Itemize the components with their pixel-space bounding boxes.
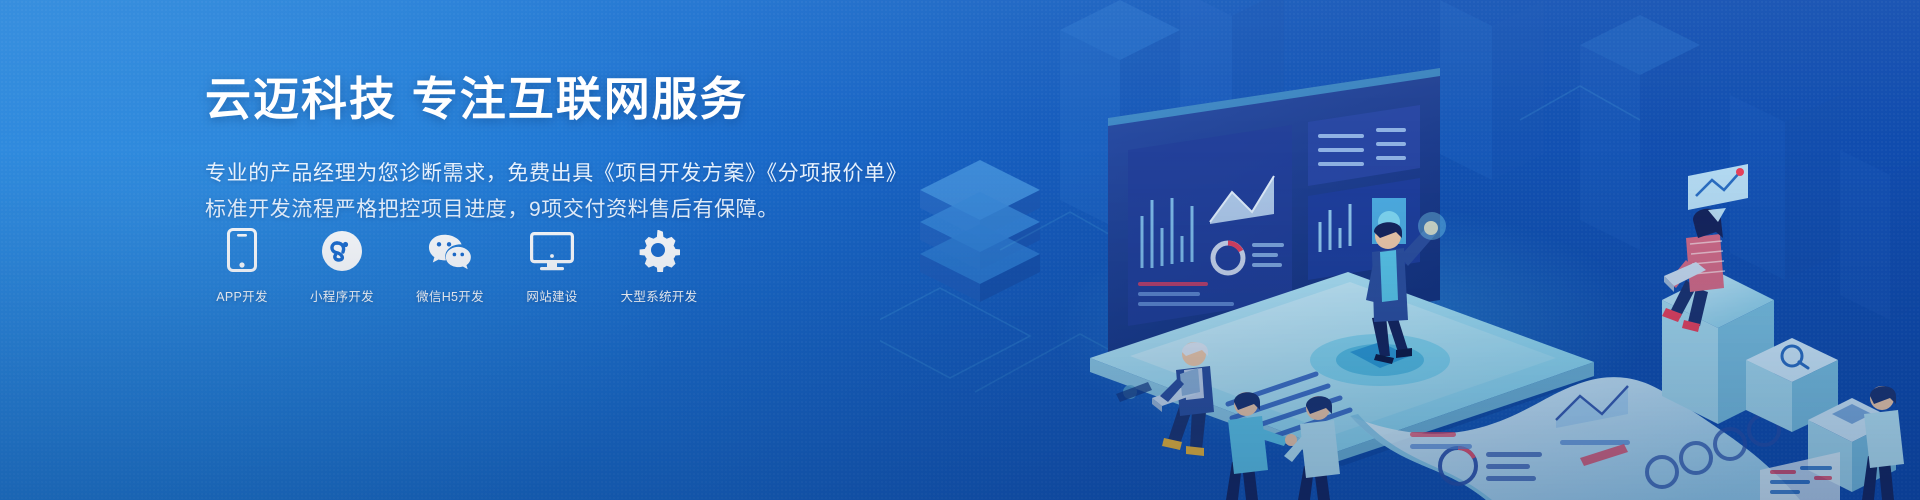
subtitle-line-1: 专业的产品经理为您诊断需求，免费出具《项目开发方案》《分项报价单》 <box>205 156 925 192</box>
service-item-website[interactable]: 网站建设 <box>515 228 589 305</box>
service-label: APP开发 <box>216 286 268 305</box>
mobile-phone-icon <box>220 228 264 272</box>
service-label: 网站建设 <box>526 286 577 305</box>
service-item-app[interactable]: APP开发 <box>205 228 279 305</box>
service-label: 微信H5开发 <box>416 286 484 305</box>
service-icon-row: APP开发 小程序开发 <box>205 228 709 305</box>
hero-banner: 云迈科技 专注互联网服务 专业的产品经理为您诊断需求，免费出具《项目开发方案》《… <box>0 0 1920 500</box>
hero-copy: 云迈科技 专注互联网服务 专业的产品经理为您诊断需求，免费出具《项目开发方案》《… <box>205 70 925 228</box>
code-panel <box>1760 452 1840 500</box>
isometric-data-dashboard-illustration <box>880 0 1920 500</box>
service-item-mini-program[interactable]: 小程序开发 <box>299 228 385 305</box>
service-label: 小程序开发 <box>310 286 374 305</box>
service-item-wechat-h5[interactable]: 微信H5开发 <box>405 228 495 305</box>
far-right-standing-person <box>1862 386 1904 500</box>
service-label: 大型系统开发 <box>621 286 698 305</box>
desktop-monitor-icon <box>530 228 574 272</box>
mini-program-icon <box>320 228 364 272</box>
server-stack-blocks <box>920 160 1040 302</box>
subtitle-line-2: 标准开发流程严格把控项目进度，9项交付资料售后有保障。 <box>205 192 925 228</box>
wechat-icon <box>428 228 472 272</box>
gear-icon <box>637 228 681 272</box>
service-item-large-system[interactable]: 大型系统开发 <box>609 228 709 305</box>
page-title: 云迈科技 专注互联网服务 <box>205 70 925 130</box>
